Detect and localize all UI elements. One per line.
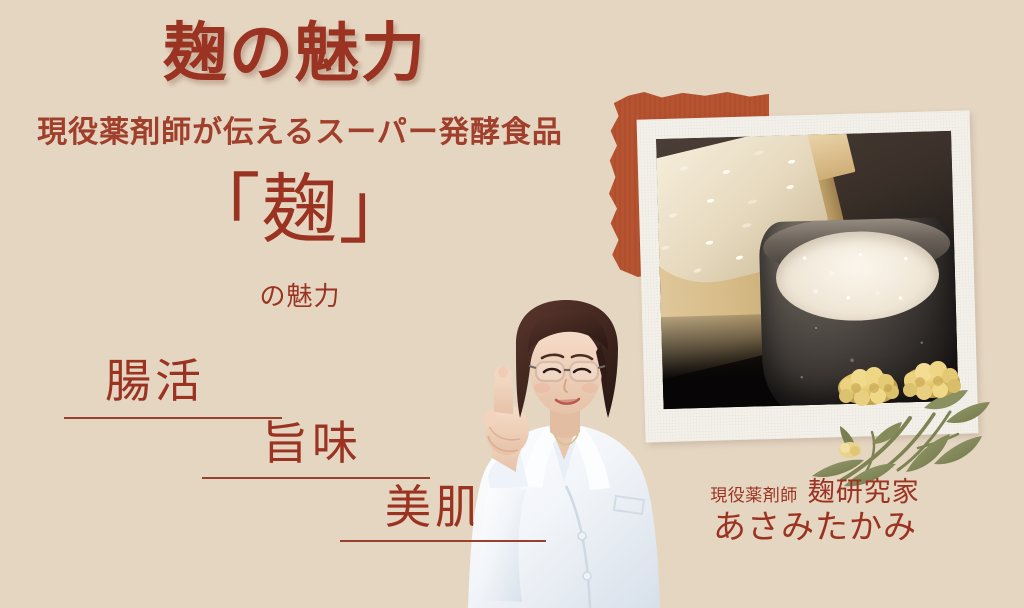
flower-bud (839, 442, 861, 458)
poster-canvas: 麹の魅力 現役薬剤師が伝えるスーパー発酵食品 「麹」 の魅力 腸活 旨味 美肌 (0, 0, 1024, 608)
keyword-rule-3 (340, 540, 546, 542)
quoted-keyword-heading: 「麹」 (0, 170, 600, 254)
credit-block: 現役薬剤師 麹研究家 あさみたかみ (690, 478, 940, 545)
face (516, 300, 618, 445)
credit-title: 麹研究家 (808, 478, 920, 506)
pharmacist-photo (430, 300, 692, 608)
page-subtitle: 現役薬剤師が伝えるスーパー発酵食品 (0, 115, 600, 151)
credit-role: 現役薬剤師 (710, 487, 798, 505)
keyword-choukatsu: 腸活 (105, 358, 205, 404)
credit-name: あさみたかみ (690, 510, 940, 545)
keyword-umami: 旨味 (262, 420, 362, 466)
keyword-rule-2 (202, 477, 430, 479)
page-title: 麹の魅力 (0, 22, 590, 86)
photo-image-koji-amazake (656, 131, 958, 409)
keyword-rule-1 (64, 417, 282, 419)
